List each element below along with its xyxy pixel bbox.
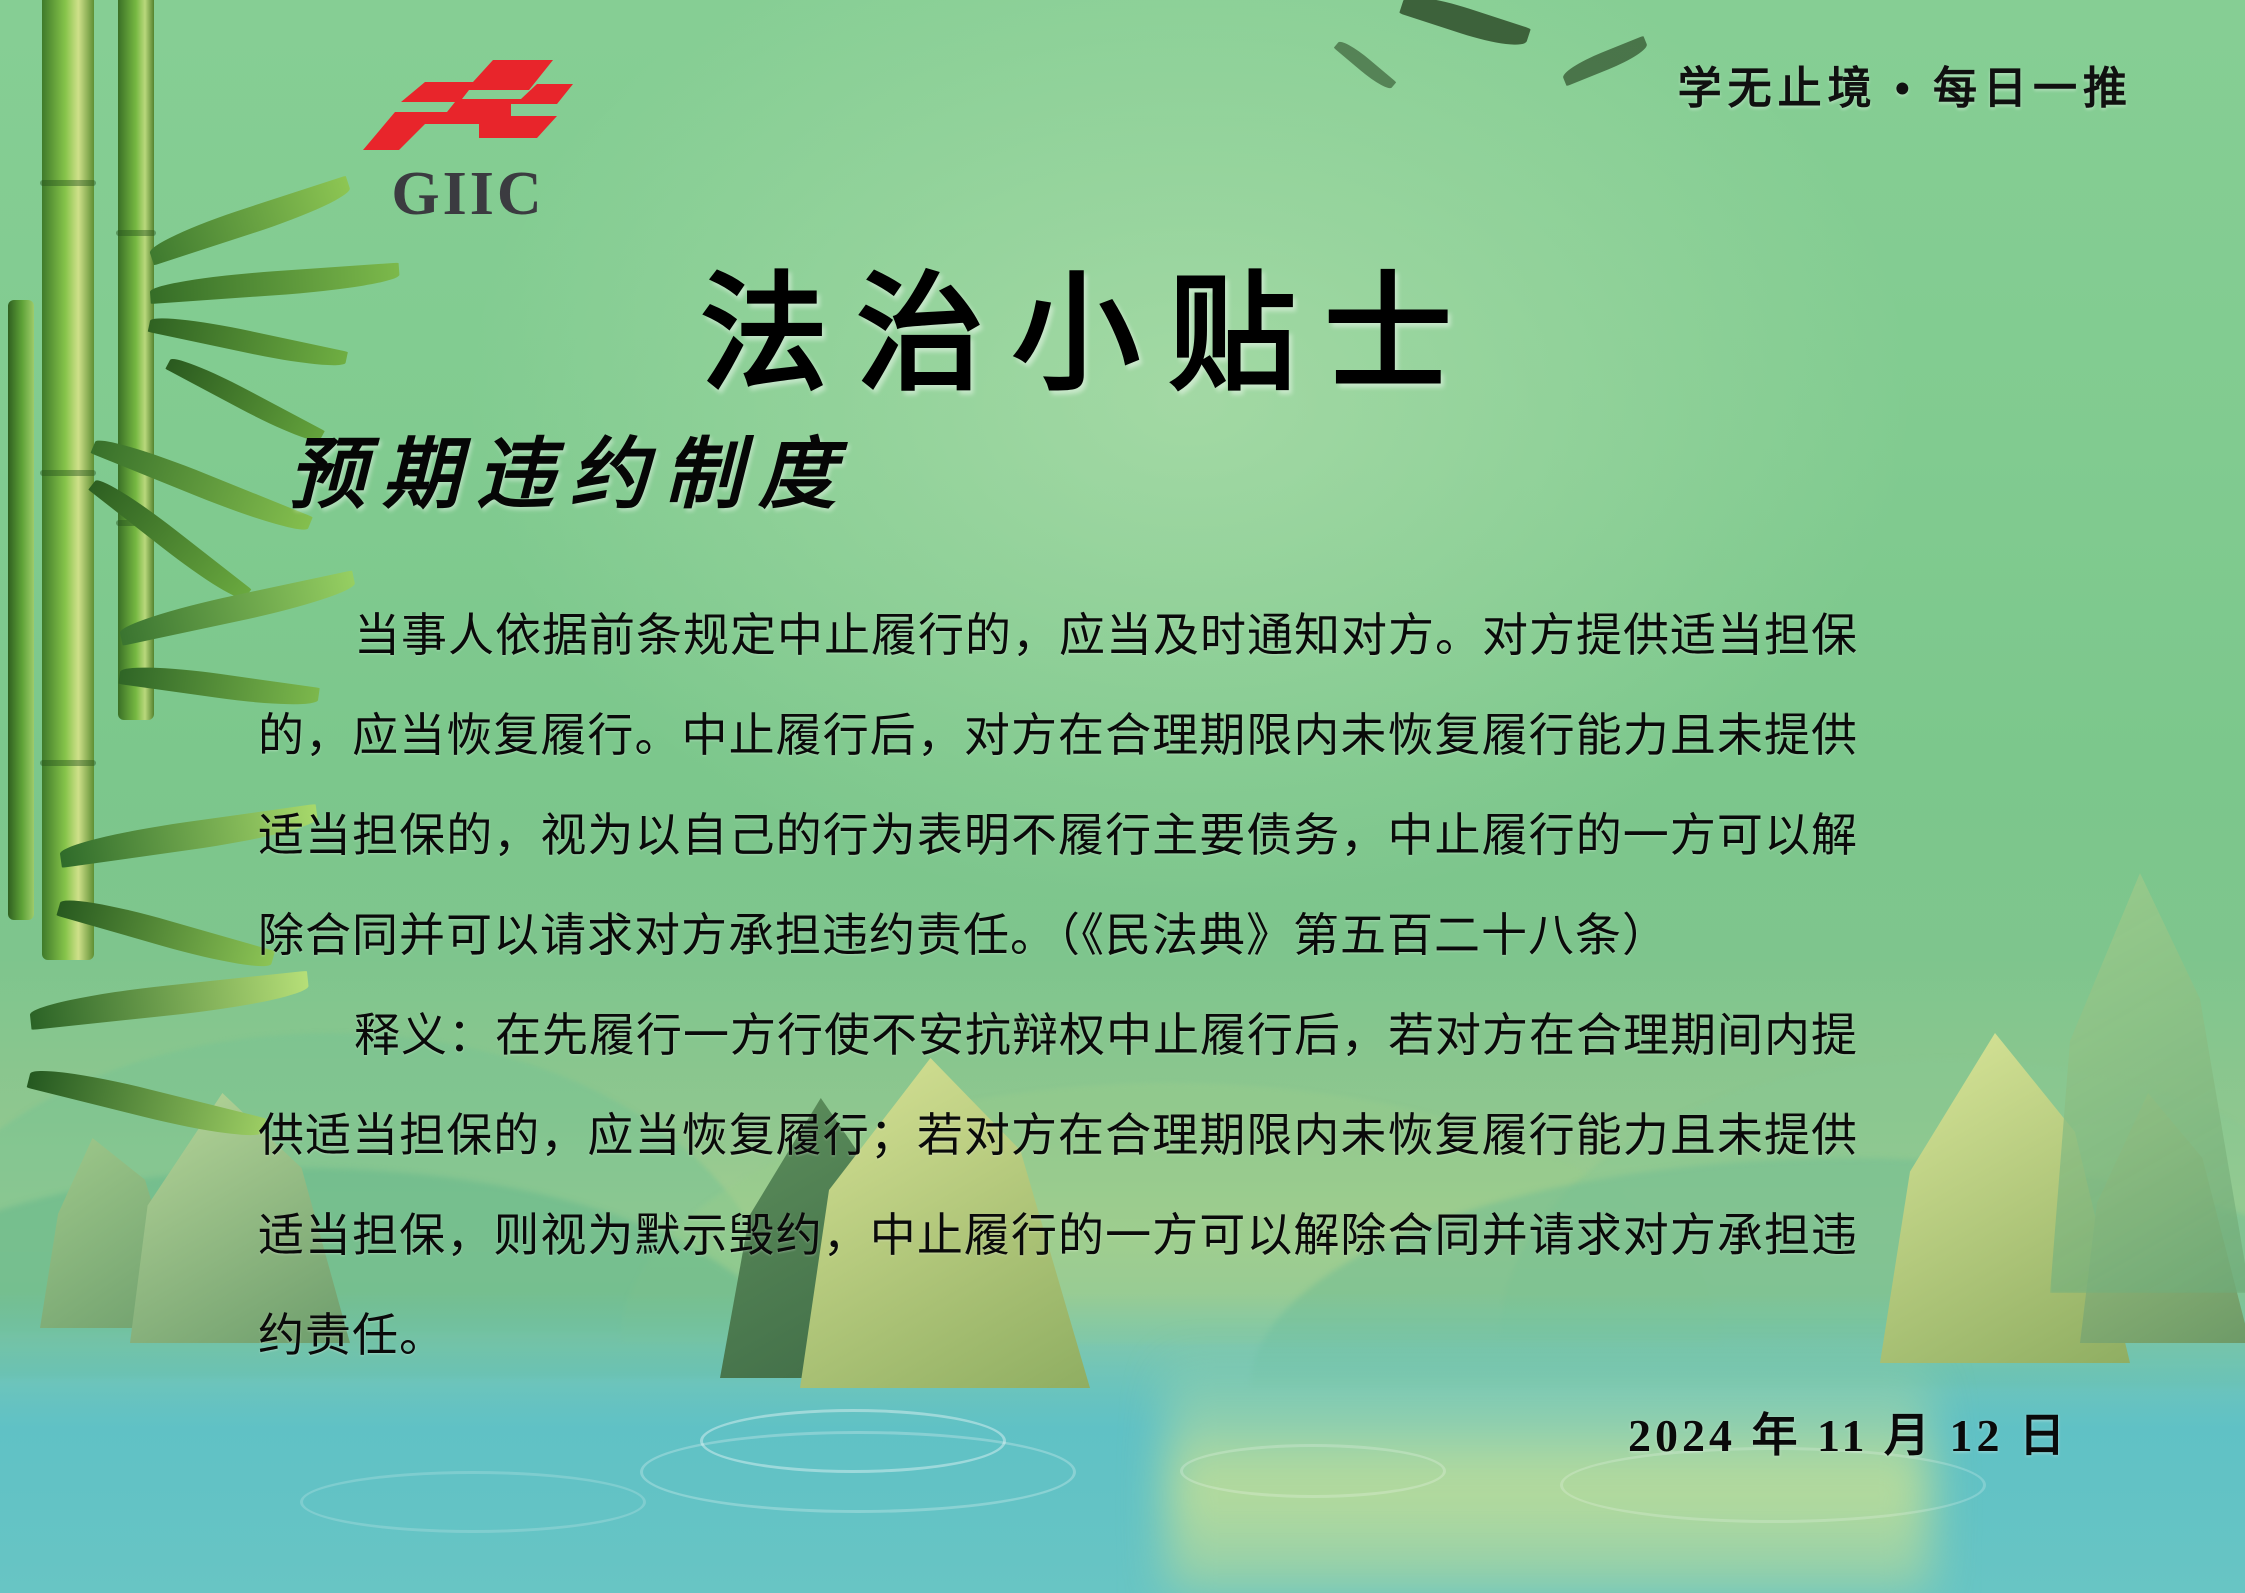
paragraph-law-text: 当事人依据前条规定中止履行的，应当及时通知对方。对方提供适当担保的，应当恢复履行… <box>258 586 1858 986</box>
page-subtitle: 预期违约制度 <box>288 412 852 524</box>
giic-logo-mark <box>361 52 576 157</box>
brand-logo: GIIC <box>348 52 588 225</box>
paragraph-interpretation: 释义：在先履行一方行使不安抗辩权中止履行后，若对方在合理期间内提供适当担保的，应… <box>258 986 1858 1386</box>
logo-wordmark: GIIC <box>348 163 588 225</box>
page-title: 法治小贴士 <box>700 230 1480 415</box>
poster-content: 学无止境 • 每日一推 GIIC 法治小贴士 预期违约制度 当事人依据前条规定中… <box>0 0 2245 1593</box>
poster-canvas: 学无止境 • 每日一推 GIIC 法治小贴士 预期违约制度 当事人依据前条规定中… <box>0 0 2245 1593</box>
body-content: 当事人依据前条规定中止履行的，应当及时通知对方。对方提供适当担保的，应当恢复履行… <box>258 586 1858 1386</box>
tagline: 学无止境 • 每日一推 <box>1678 52 2133 116</box>
publish-date: 2024 年 11 月 12 日 <box>1628 1399 2069 1465</box>
